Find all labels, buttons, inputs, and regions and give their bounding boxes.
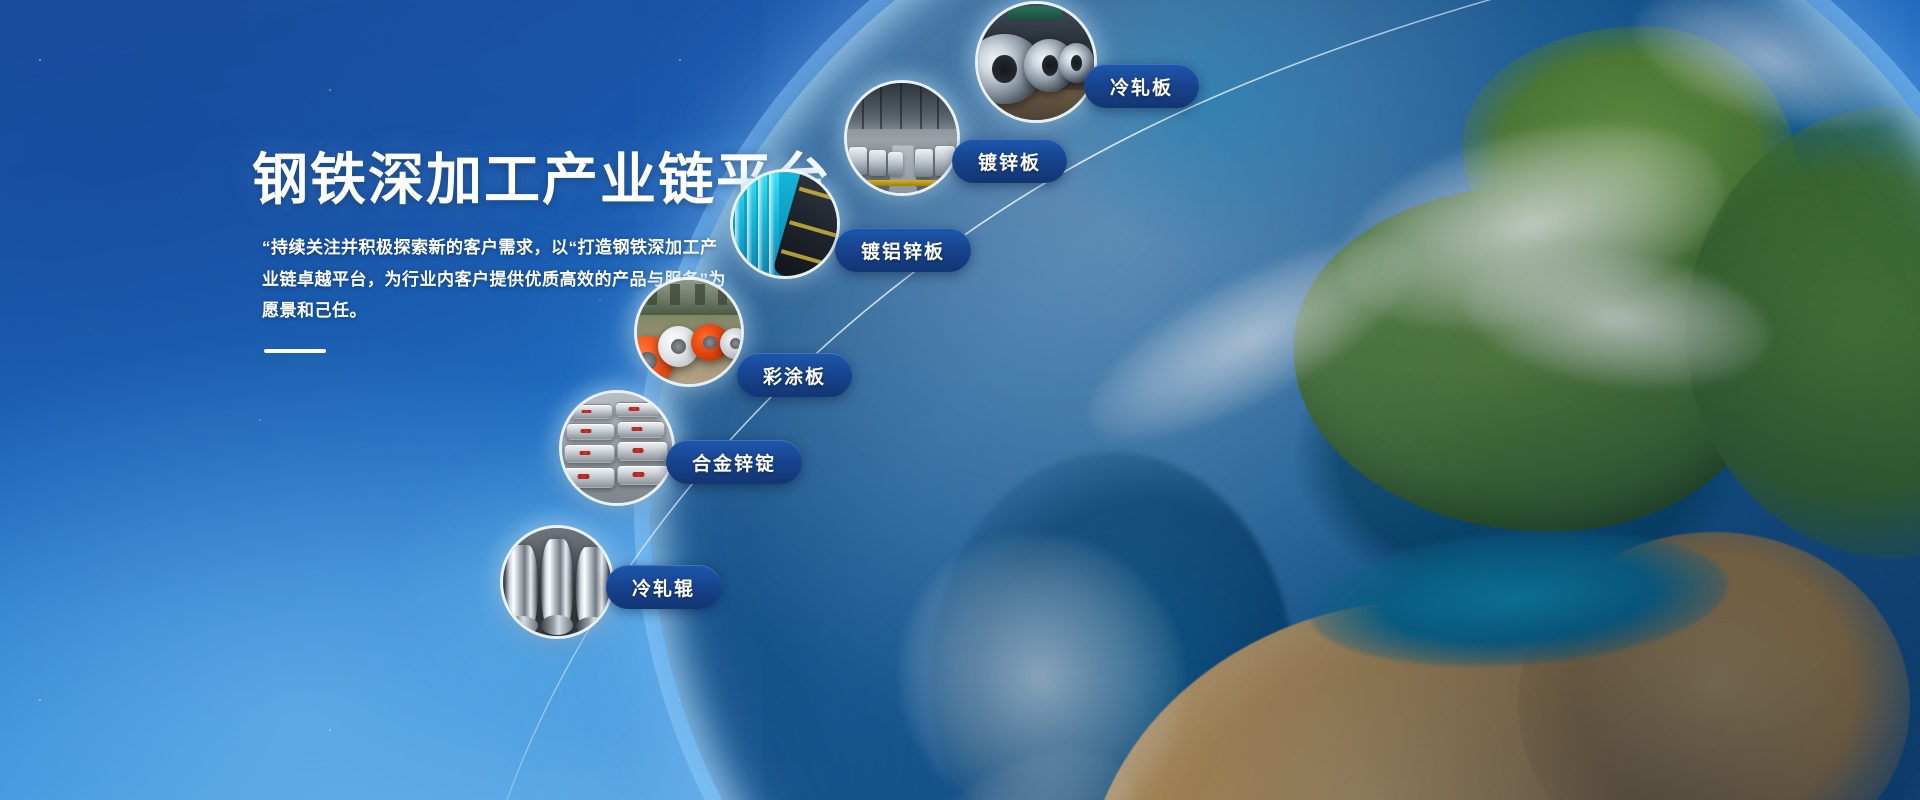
node-label-text: 合金锌锭 <box>692 449 776 476</box>
color-coated-coils-photo[interactable] <box>637 280 741 384</box>
title-underline-rule <box>264 349 326 353</box>
node-label-text: 冷轧板 <box>1110 73 1173 100</box>
cold-rolled-coils-photo[interactable] <box>978 4 1094 120</box>
earth-sphere <box>650 0 1920 800</box>
node-label-text: 冷轧辊 <box>632 574 695 601</box>
aluzinc-coil-photo[interactable] <box>733 172 837 276</box>
node-label-text: 镀锌板 <box>978 148 1041 175</box>
node-label-color-coated-sheet[interactable]: 彩涂板 <box>737 353 852 397</box>
node-label-zinc-alloy-ingot[interactable]: 合金锌锭 <box>666 440 802 484</box>
node-label-aluzinc-sheet[interactable]: 镀铝锌板 <box>835 228 971 272</box>
earth-globe-image <box>650 0 1920 800</box>
zinc-ingot-stack-photo[interactable] <box>562 393 672 503</box>
node-label-cold-rolled-sheet[interactable]: 冷轧板 <box>1084 64 1199 108</box>
node-label-galvanized-sheet[interactable]: 镀锌板 <box>952 139 1067 183</box>
node-label-text: 彩涂板 <box>763 362 826 389</box>
node-label-cold-rolling-roll[interactable]: 冷轧辊 <box>606 565 721 609</box>
galvanized-warehouse-photo[interactable] <box>847 83 957 193</box>
cold-rolling-rolls-photo[interactable] <box>503 528 611 636</box>
hero-banner: 钢铁深加工产业链平台 “持续关注并积极探索新的客户需求，以“打造钢铁深加工产业链… <box>0 0 1920 800</box>
node-label-text: 镀铝锌板 <box>861 237 945 264</box>
